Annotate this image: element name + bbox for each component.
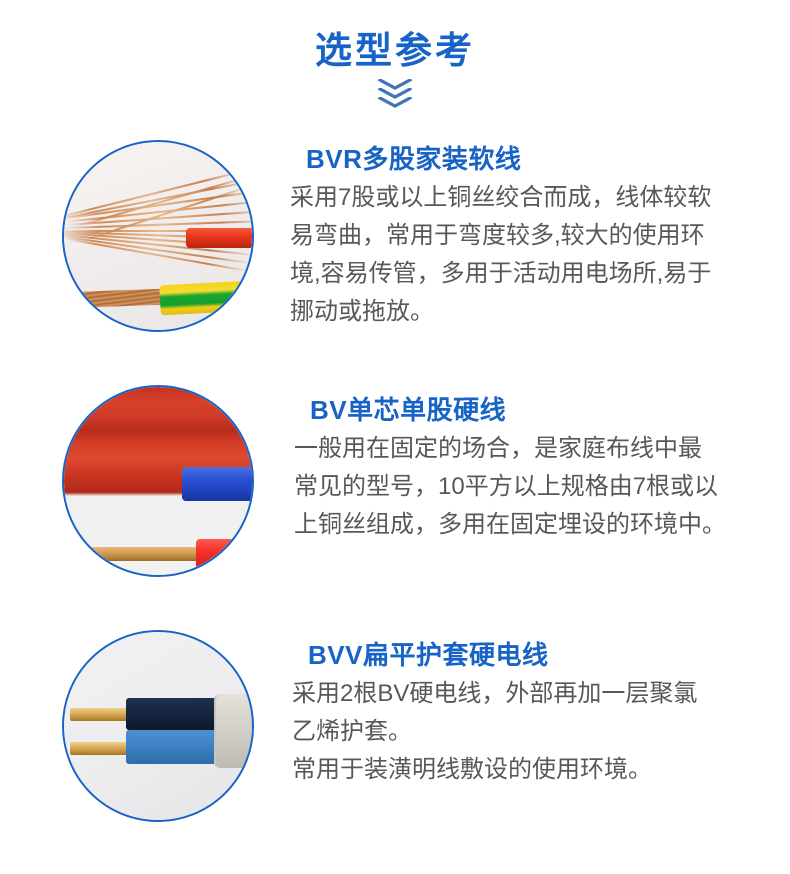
body-line: 常见的型号，10平方以上规格由7根或以	[294, 468, 764, 506]
yellow-green-wire	[159, 279, 252, 316]
product-photo-bvv	[62, 630, 254, 822]
section-heading-bv: BV单芯单股硬线	[310, 395, 764, 426]
product-selection-infographic: 选型参考	[0, 0, 790, 874]
body-line: 采用7股或以上铜丝绞合而成，线体较软	[290, 179, 760, 217]
text-block-bv: BV单芯单股硬线 一般用在固定的场合，是家庭布线中最 常见的型号，10平方以上规…	[294, 395, 764, 544]
product-photo-bvr	[62, 140, 254, 332]
text-block-bvr: BVR多股家装软线 采用7股或以上铜丝绞合而成，线体较软 易弯曲，常用于弯度较多…	[290, 144, 760, 331]
red-insulated-wire	[196, 539, 252, 569]
body-line: 采用2根BV硬电线，外部再加一层聚氯	[292, 675, 762, 713]
copper-core	[64, 475, 190, 488]
red-insulation	[186, 228, 252, 248]
page-title: 选型参考	[0, 28, 790, 74]
blue-insulated-wire	[182, 467, 252, 501]
copper-pin	[70, 708, 134, 721]
body-line: 境,容易传管，多用于活动用电场所,易于	[290, 255, 760, 293]
body-line: 一般用在固定的场合，是家庭布线中最	[294, 430, 764, 468]
copper-core	[76, 547, 200, 561]
section-bvr: BVR多股家装软线 采用7股或以上铜丝绞合而成，线体较软 易弯曲，常用于弯度较多…	[0, 130, 790, 375]
section-bv: BV单芯单股硬线 一般用在固定的场合，是家庭布线中最 常见的型号，10平方以上规…	[0, 375, 790, 620]
section-body-bvv: 采用2根BV硬电线，外部再加一层聚氯 乙烯护套。 常用于装潢明线敷设的使用环境。	[292, 675, 762, 789]
body-line: 常用于装潢明线敷设的使用环境。	[292, 751, 762, 789]
section-bvv: BVV扁平护套硬电线 采用2根BV硬电线，外部再加一层聚氯 乙烯护套。 常用于装…	[0, 620, 790, 865]
body-line: 易弯曲，常用于弯度较多,较大的使用环	[290, 217, 760, 255]
product-photo-bv	[62, 385, 254, 577]
body-line: 上铜丝组成，多用在固定埋设的环境中。	[294, 506, 764, 544]
copper-pin	[70, 742, 134, 755]
section-heading-bvr: BVR多股家装软线	[306, 144, 760, 175]
section-body-bv: 一般用在固定的场合，是家庭布线中最 常见的型号，10平方以上规格由7根或以 上铜…	[294, 430, 764, 544]
chevron-down-icon	[378, 97, 412, 107]
section-body-bvr: 采用7股或以上铜丝绞合而成，线体较软 易弯曲，常用于弯度较多,较大的使用环 境,…	[290, 179, 760, 331]
text-block-bvv: BVV扁平护套硬电线 采用2根BV硬电线，外部再加一层聚氯 乙烯护套。 常用于装…	[292, 640, 762, 789]
double-chevron-down-icon	[0, 80, 790, 107]
outer-sheath	[214, 694, 252, 768]
header: 选型参考	[0, 28, 790, 107]
body-line: 挪动或拖放。	[290, 293, 760, 331]
section-heading-bvv: BVV扁平护套硬电线	[308, 640, 762, 671]
body-line: 乙烯护套。	[292, 713, 762, 751]
